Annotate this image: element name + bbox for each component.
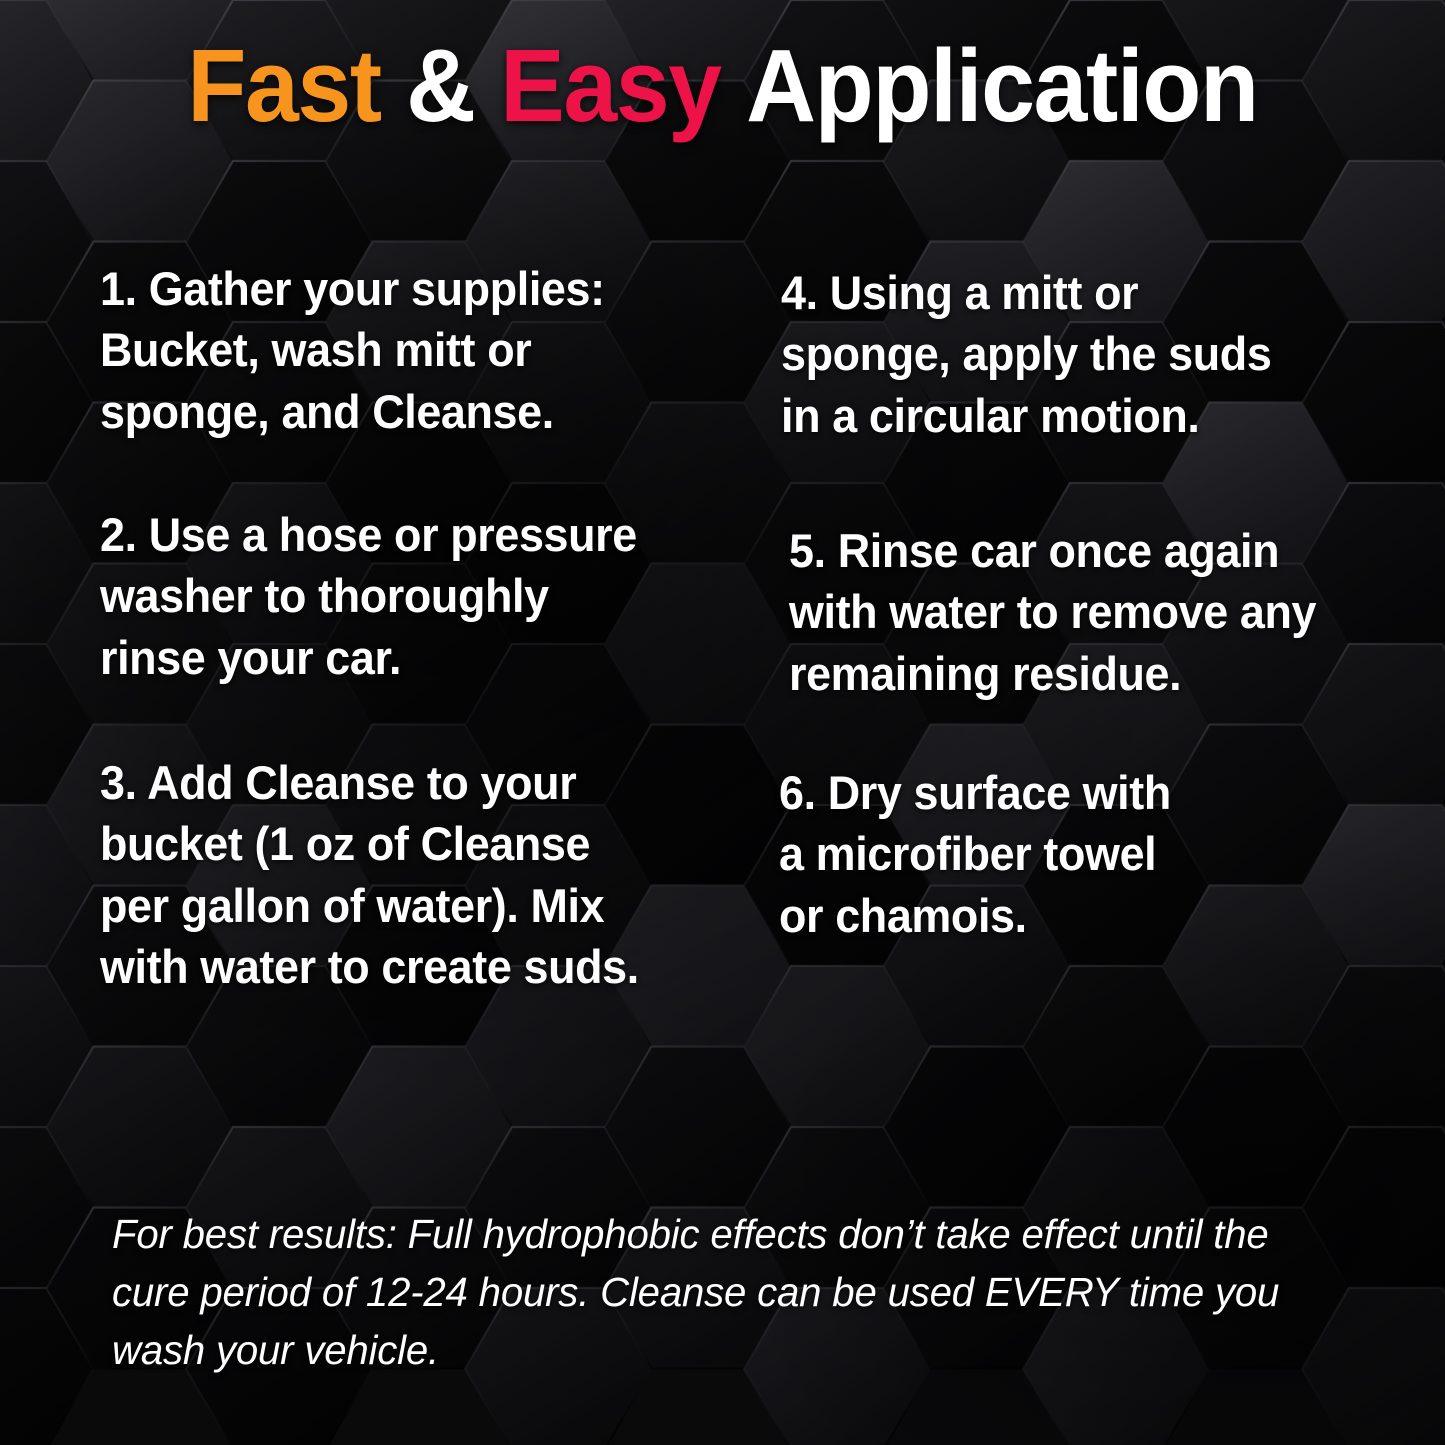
title-word-ampersand: & bbox=[406, 28, 475, 143]
step-item-4: 4. Using a mitt or sponge, apply the sud… bbox=[781, 262, 1325, 446]
steps-left-column: 1. Gather your supplies: Bucket, wash mi… bbox=[100, 258, 689, 997]
title-word-fast: Fast bbox=[187, 28, 380, 143]
page-title: Fast & Easy Application bbox=[43, 30, 1401, 141]
step-item-2: 2. Use a hose or pressure washer to thor… bbox=[100, 504, 662, 688]
poster-canvas: Fast & Easy Application 1. Gather your s… bbox=[0, 0, 1445, 1445]
step-item-6: 6. Dry surface with a microfiber towel o… bbox=[779, 762, 1325, 946]
step-item-3: 3. Add Cleanse to your bucket (1 oz of C… bbox=[100, 752, 662, 997]
steps-container: 1. Gather your supplies: Bucket, wash mi… bbox=[100, 258, 1350, 997]
step-item-5: 5. Rinse car once again with water to re… bbox=[789, 520, 1325, 704]
steps-right-column: 4. Using a mitt or sponge, apply the sud… bbox=[767, 258, 1350, 997]
best-results-note: For best results: Full hydrophobic effec… bbox=[112, 1205, 1317, 1380]
title-word-easy: Easy bbox=[500, 28, 720, 143]
title-word-application: Application bbox=[746, 28, 1258, 143]
step-item-1: 1. Gather your supplies: Bucket, wash mi… bbox=[100, 258, 662, 442]
